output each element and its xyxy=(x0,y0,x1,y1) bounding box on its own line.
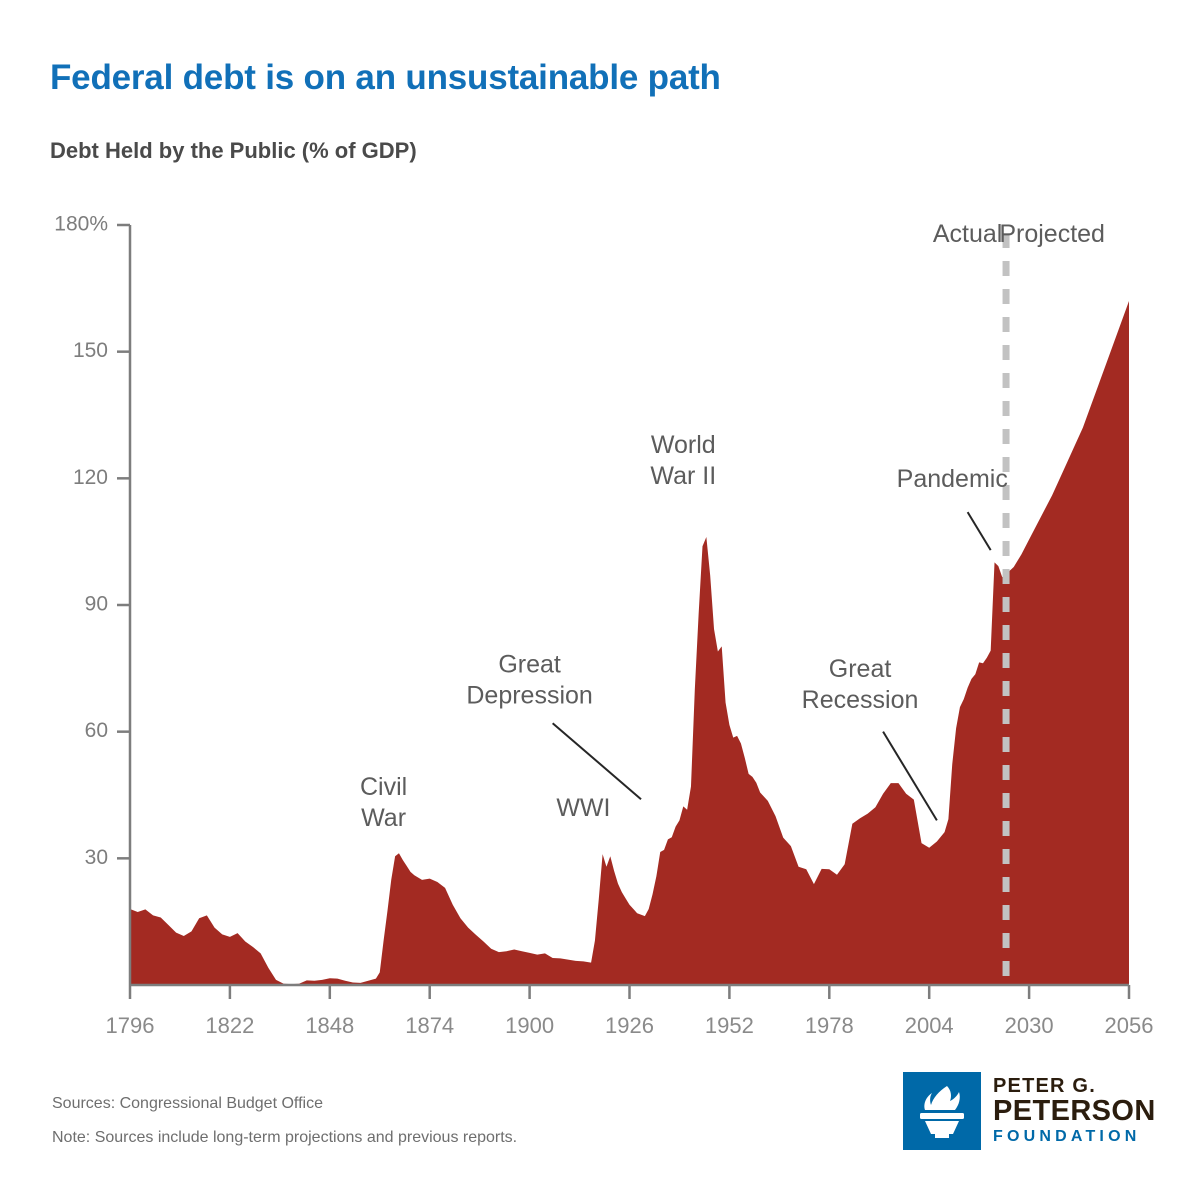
region-labels: ActualProjected xyxy=(933,220,1105,248)
y-tick-label: 60 xyxy=(85,719,108,742)
torch-flame-glyph xyxy=(903,1072,981,1150)
annotation-pandemic: Pandemic xyxy=(897,465,1008,493)
annotation-world-war-ii: WorldWar II xyxy=(650,431,716,490)
chart-page: Federal debt is on an unsustainable path… xyxy=(0,0,1200,1200)
logo-wordmark: PETER G. PETERSON FOUNDATION xyxy=(993,1072,1156,1150)
x-tick-label: 1822 xyxy=(205,1013,254,1038)
annotation-leader-line xyxy=(553,723,641,799)
annotation-great-recession: GreatRecession xyxy=(802,655,919,714)
y-axis-ticks: 180%150120906030 xyxy=(54,213,130,869)
y-tick-label: 180% xyxy=(54,213,108,236)
x-tick-label: 2030 xyxy=(1005,1013,1054,1038)
annotation-great-depression: GreatDepression xyxy=(466,651,592,710)
note-text: Note: Sources include long-term projecti… xyxy=(52,1129,517,1147)
x-tick-label: 1952 xyxy=(705,1013,754,1038)
annotation-leader-line xyxy=(968,512,991,550)
chart-annotations: CivilWarGreatDepressionWWIWorldWar IIGre… xyxy=(360,431,1008,832)
y-tick-label: 150 xyxy=(73,339,108,362)
y-tick-label: 30 xyxy=(85,846,108,869)
x-axis-ticks: 1796182218481874190019261952197820042030… xyxy=(106,985,1154,1038)
x-tick-label: 1900 xyxy=(505,1013,554,1038)
x-tick-label: 1796 xyxy=(106,1013,155,1038)
chart-area: 180%150120906030 17961822184818741900192… xyxy=(0,0,1200,1200)
debt-area-chart: 180%150120906030 17961822184818741900192… xyxy=(0,0,1200,1060)
annotation-civil-war: CivilWar xyxy=(360,773,407,832)
logo-line-3: FOUNDATION xyxy=(993,1128,1156,1146)
sources-text: Sources: Congressional Budget Office xyxy=(52,1095,323,1113)
x-tick-label: 2004 xyxy=(905,1013,954,1038)
logo-line-2: PETERSON xyxy=(993,1097,1156,1127)
region-label-projected: Projected xyxy=(999,220,1105,248)
debt-area-series xyxy=(130,301,1129,985)
torch-flame-icon xyxy=(903,1072,981,1150)
peterson-foundation-logo: PETER G. PETERSON FOUNDATION xyxy=(903,1072,1156,1150)
x-tick-label: 1926 xyxy=(605,1013,654,1038)
y-tick-label: 90 xyxy=(85,593,108,616)
x-tick-label: 2056 xyxy=(1105,1013,1154,1038)
x-tick-label: 1978 xyxy=(805,1013,854,1038)
annotation-wwi: WWI xyxy=(556,794,610,822)
y-tick-label: 120 xyxy=(73,466,108,489)
logo-line-1: PETER G. xyxy=(993,1076,1156,1097)
x-tick-label: 1874 xyxy=(405,1013,454,1038)
x-tick-label: 1848 xyxy=(305,1013,354,1038)
region-label-actual: Actual xyxy=(933,220,1002,248)
